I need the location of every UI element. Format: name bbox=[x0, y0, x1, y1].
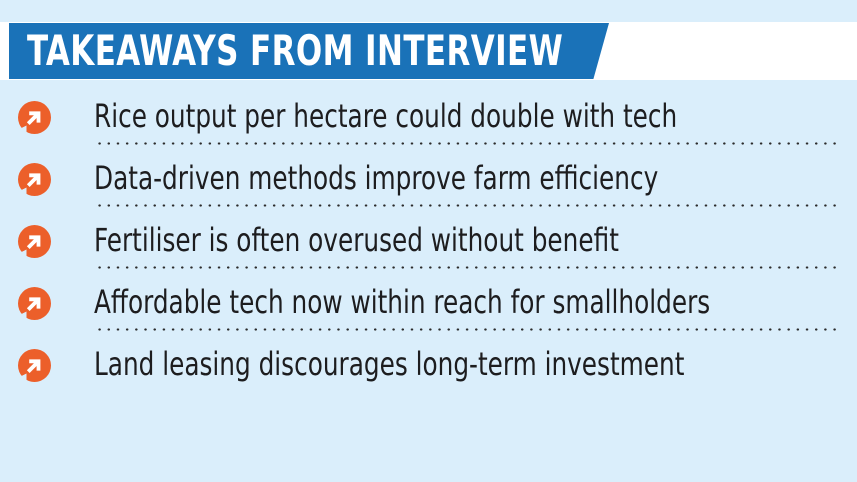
list-item: Affordable tech now within reach for sma… bbox=[0, 274, 857, 336]
circular-arrow-up-right-icon bbox=[18, 163, 51, 196]
circular-arrow-up-right-icon bbox=[18, 287, 51, 320]
page-title: TAKEAWAYS FROM INTERVIEW bbox=[27, 26, 563, 76]
list-item-label: Affordable tech now within reach for sma… bbox=[94, 278, 740, 326]
dotted-divider bbox=[95, 328, 839, 331]
list-item-label: Rice output per hectare could double wit… bbox=[94, 92, 740, 140]
circular-arrow-up-right-icon bbox=[18, 225, 51, 258]
takeaway-list: Rice output per hectare could double wit… bbox=[0, 88, 857, 398]
dotted-divider bbox=[95, 142, 839, 145]
dotted-divider bbox=[95, 266, 839, 269]
circular-arrow-up-right-icon bbox=[18, 349, 51, 382]
list-item: Rice output per hectare could double wit… bbox=[0, 88, 857, 150]
list-item-label: Data-driven methods improve farm efficie… bbox=[94, 154, 740, 202]
list-item: Fertiliser is often overused without ben… bbox=[0, 212, 857, 274]
dotted-divider bbox=[95, 204, 839, 207]
list-item-label: Land leasing discourages long-term inves… bbox=[94, 340, 740, 388]
takeaways-infographic: TAKEAWAYS FROM INTERVIEW Rice output per… bbox=[0, 0, 857, 482]
list-item: Land leasing discourages long-term inves… bbox=[0, 336, 857, 398]
circular-arrow-up-right-icon bbox=[18, 101, 51, 134]
list-item-label: Fertiliser is often overused without ben… bbox=[94, 216, 740, 264]
list-item: Data-driven methods improve farm efficie… bbox=[0, 150, 857, 212]
